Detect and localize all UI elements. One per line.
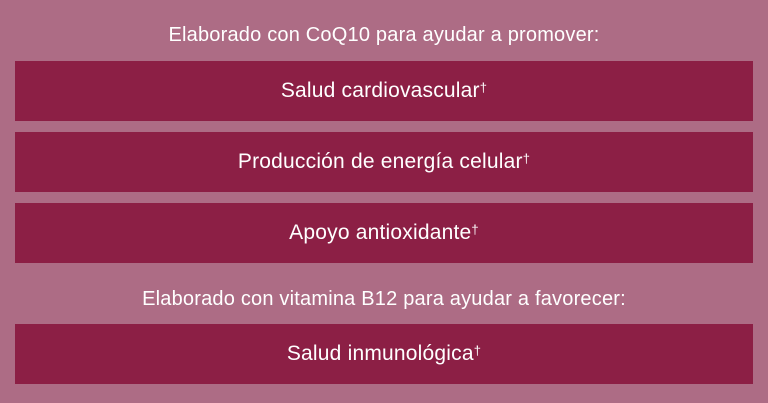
benefit-bar-cardiovascular: Salud cardiovascular† (15, 61, 753, 121)
dagger-marker-cardiovascular: † (480, 80, 487, 95)
benefit-bar-inmunologica: Salud inmunológica† (15, 324, 753, 384)
benefits-panel: Elaborado con CoQ10 para ayudar a promov… (0, 0, 768, 403)
benefit-bar-energia: Producción de energía celular† (15, 132, 753, 192)
dagger-marker-energia: † (523, 151, 530, 166)
benefit-text-cardiovascular: Salud cardiovascular (281, 79, 480, 102)
benefit-bar-antioxidante: Apoyo antioxidante† (15, 203, 753, 263)
benefit-text-antioxidante: Apoyo antioxidante (289, 221, 471, 244)
benefit-label-cardiovascular: Salud cardiovascular† (281, 79, 487, 103)
benefit-label-energia: Producción de energía celular† (238, 150, 530, 174)
benefit-label-inmunologica: Salud inmunológica† (287, 342, 481, 366)
heading-b12: Elaborado con vitamina B12 para ayudar a… (0, 286, 768, 312)
dagger-marker-antioxidante: † (471, 222, 478, 237)
benefit-text-inmunologica: Salud inmunológica (287, 342, 474, 365)
benefit-text-energia: Producción de energía celular (238, 150, 523, 173)
benefit-label-antioxidante: Apoyo antioxidante† (289, 221, 479, 245)
dagger-marker-inmunologica: † (474, 343, 481, 358)
heading-coq10: Elaborado con CoQ10 para ayudar a promov… (0, 22, 768, 48)
